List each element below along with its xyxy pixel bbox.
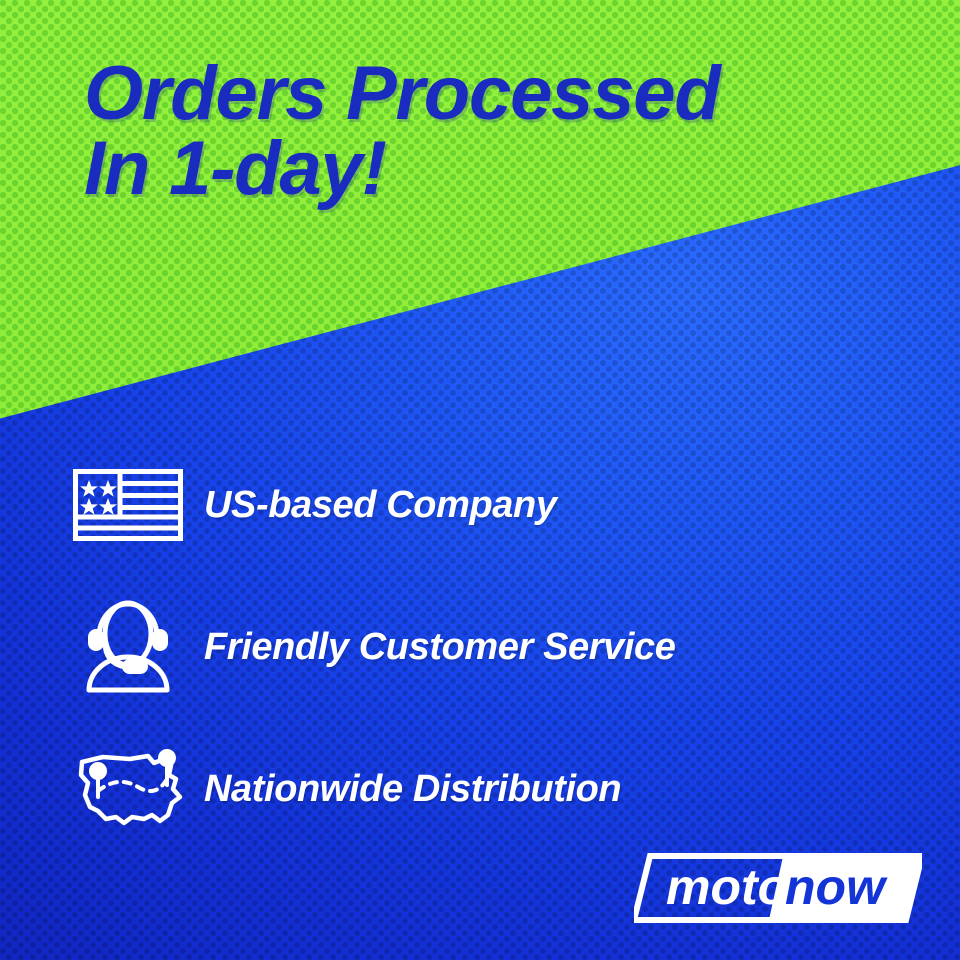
- feature-label: Nationwide Distribution: [204, 768, 621, 811]
- headset-support-icon: [72, 597, 204, 697]
- feature-list: US-based Company: [72, 434, 912, 860]
- us-map-route-icon: [72, 739, 204, 839]
- promo-banner: Orders Processed In 1-day!: [0, 0, 960, 960]
- feature-label: Friendly Customer Service: [204, 626, 676, 669]
- page-title: Orders Processed In 1-day!: [84, 56, 924, 206]
- logo-text-now: now: [785, 859, 888, 915]
- us-flag-icon: [72, 455, 204, 555]
- list-item: US-based Company: [72, 434, 912, 576]
- feature-label: US-based Company: [204, 484, 557, 527]
- list-item: Friendly Customer Service: [72, 576, 912, 718]
- logo-text-moto: moto: [666, 859, 788, 915]
- list-item: Nationwide Distribution: [72, 718, 912, 860]
- motonow-logo[interactable]: moto now: [634, 852, 922, 924]
